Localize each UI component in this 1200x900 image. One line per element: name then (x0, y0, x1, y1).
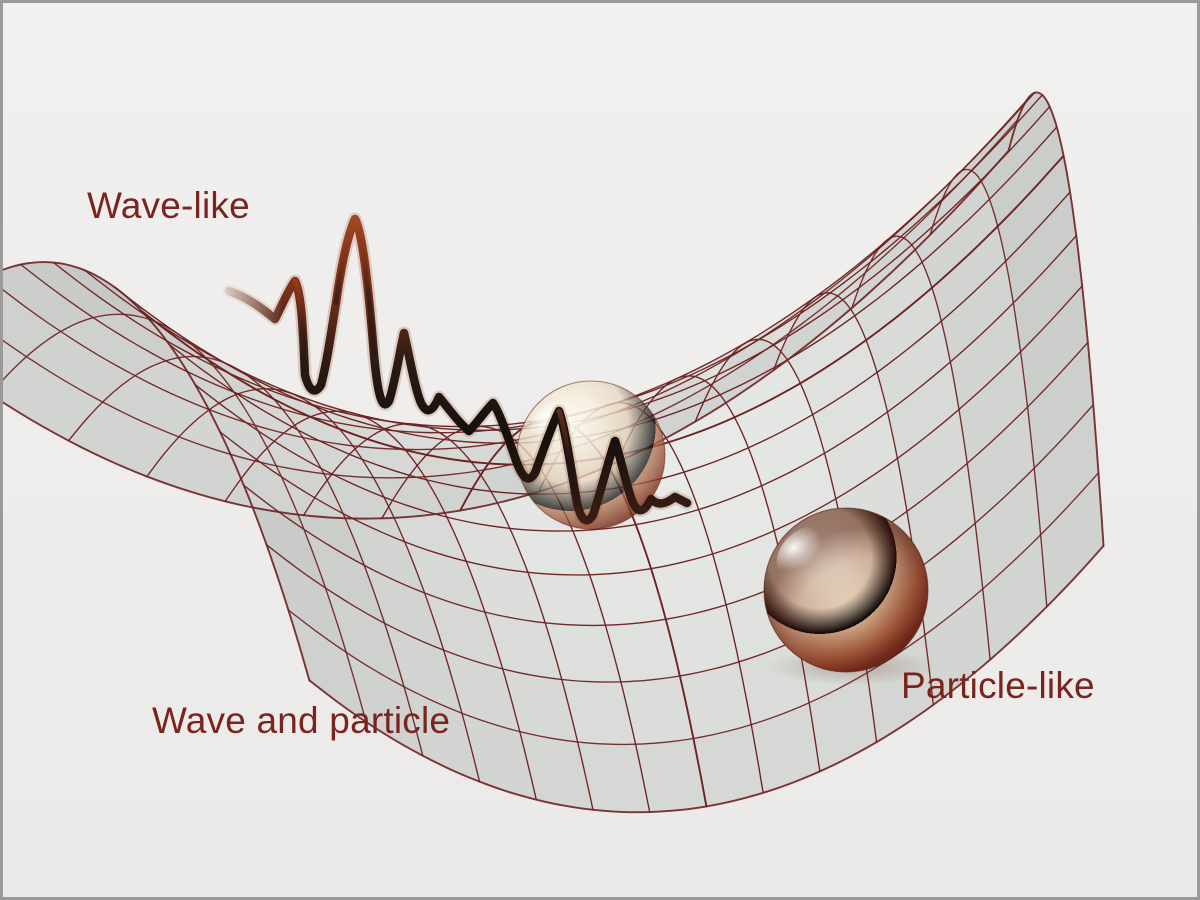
label-wave-like: Wave-like (87, 185, 250, 227)
figure-container: Wave-like Wave and particle Particle-lik… (0, 0, 1200, 900)
duality-illustration (3, 3, 1200, 900)
label-particle-like: Particle-like (901, 665, 1095, 707)
label-wave-and-particle: Wave and particle (152, 700, 450, 742)
